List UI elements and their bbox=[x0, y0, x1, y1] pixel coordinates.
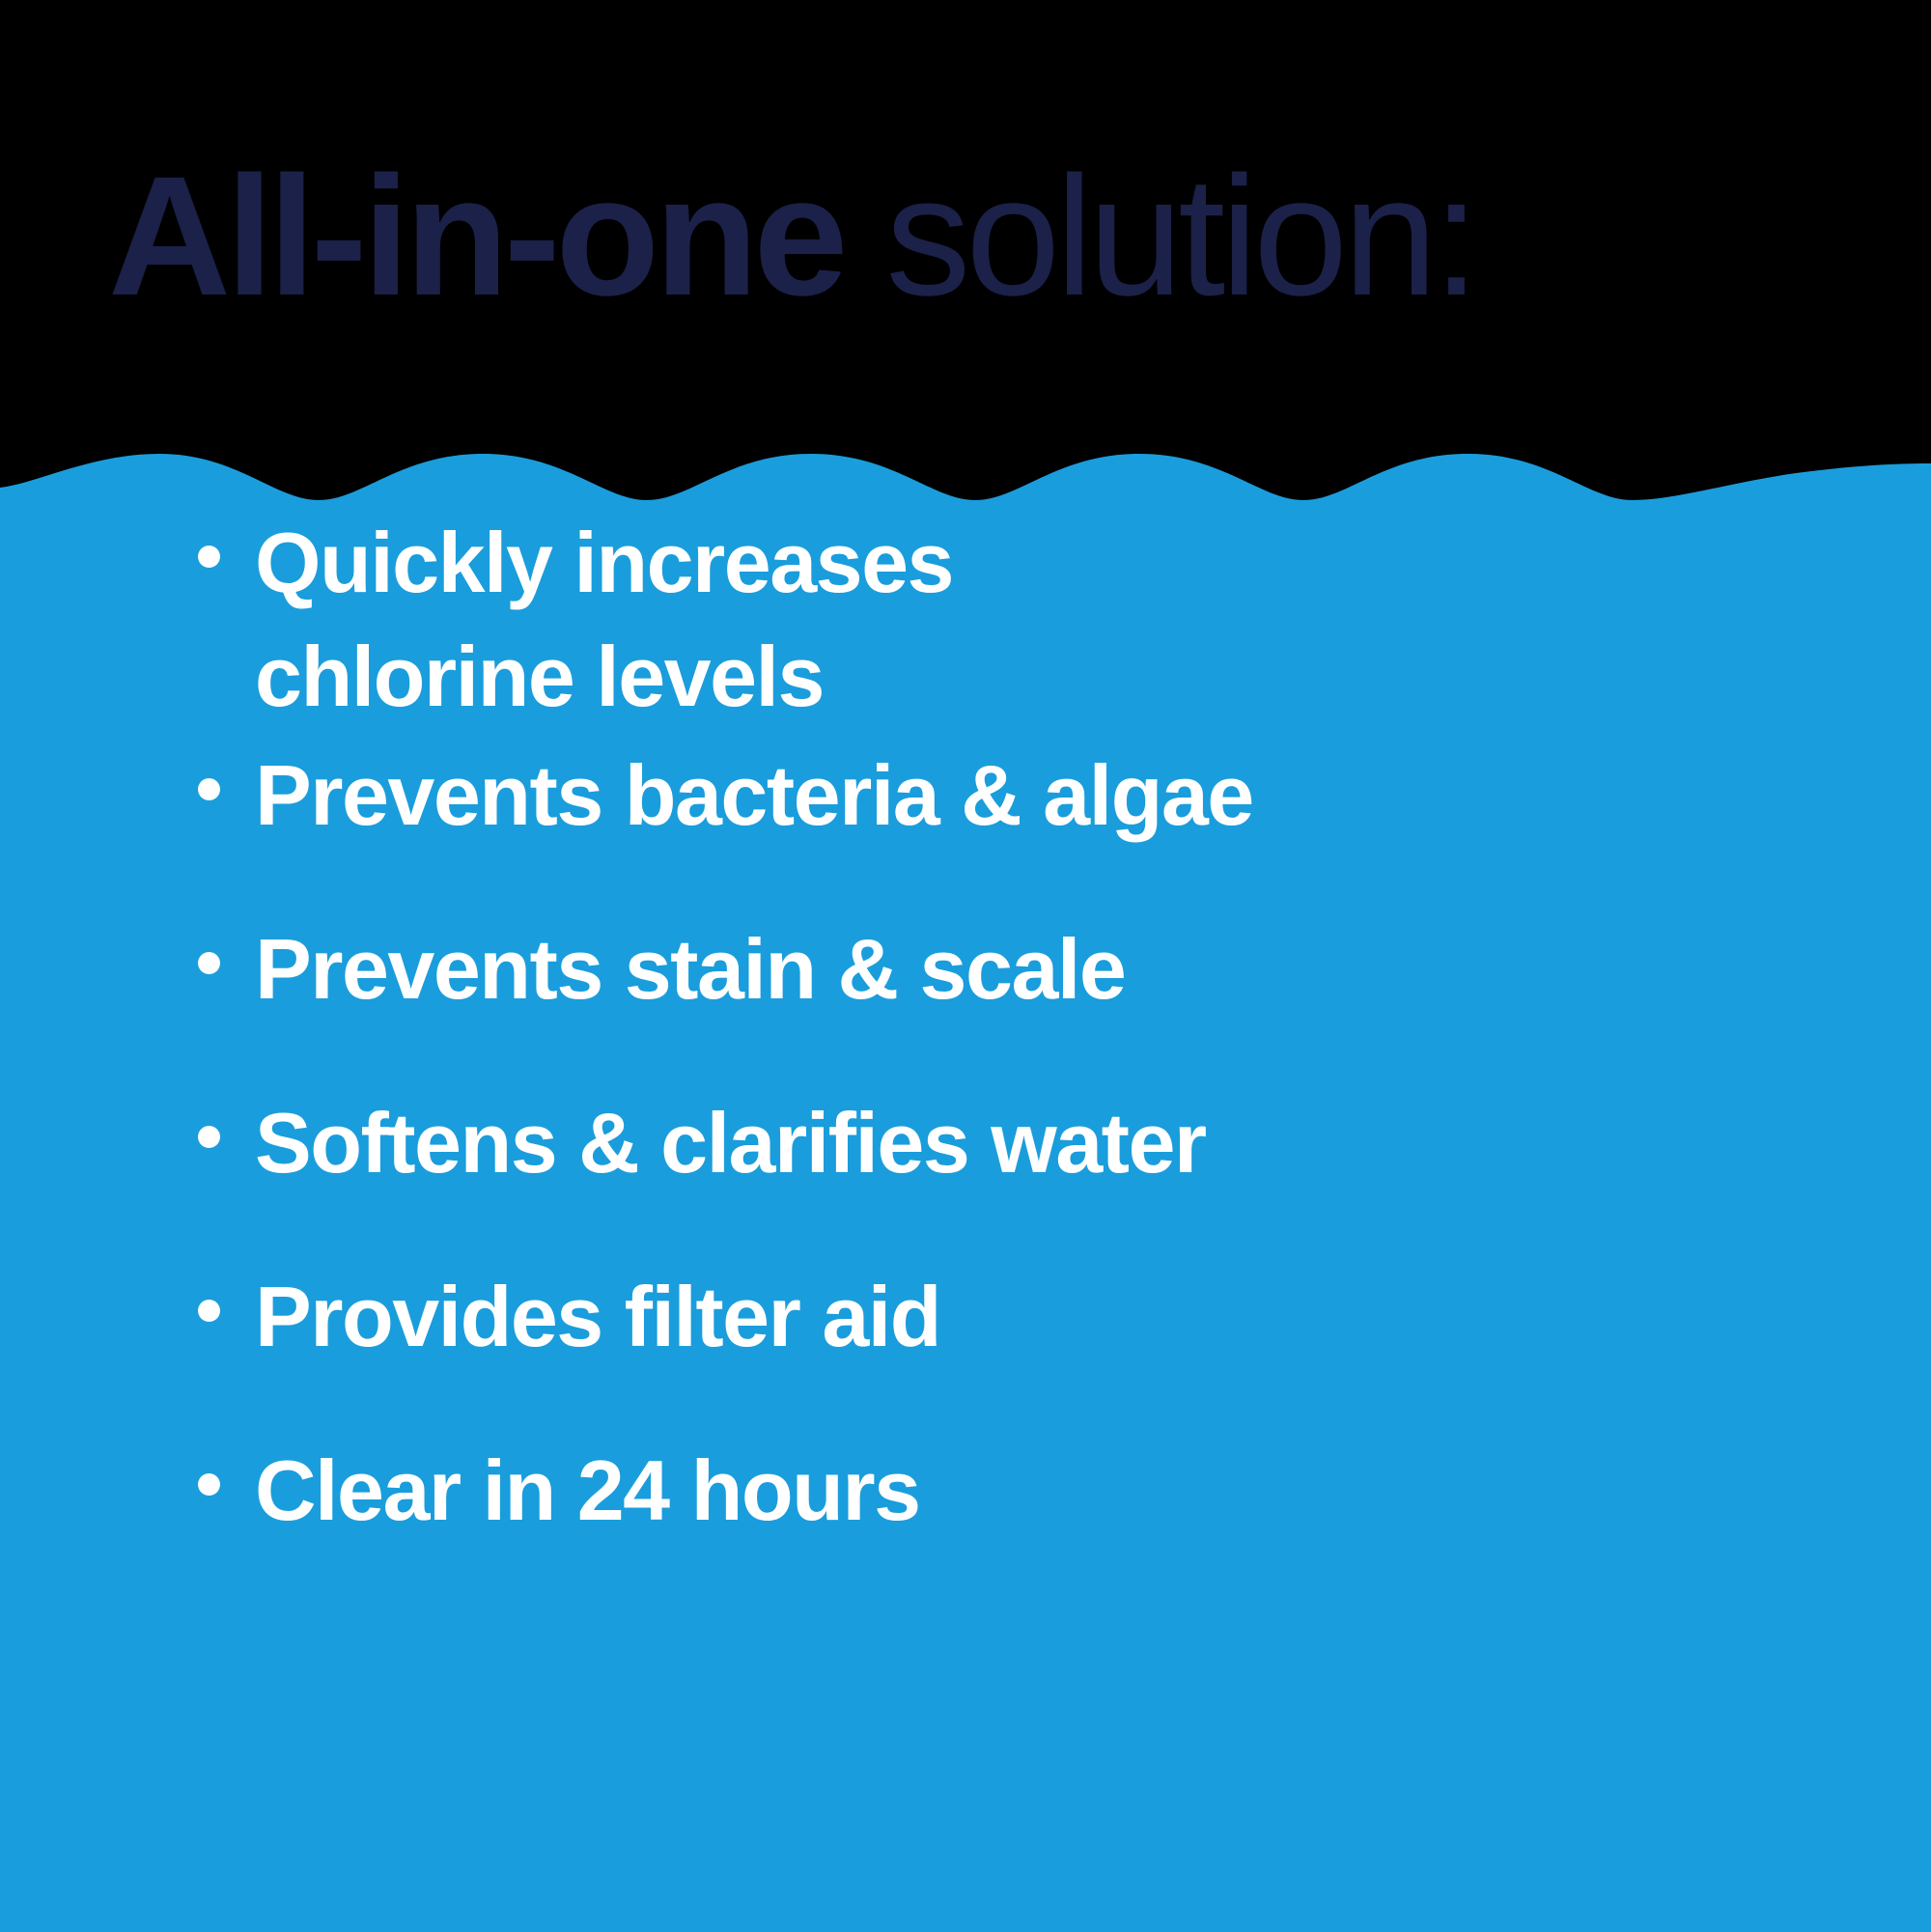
list-item-label: Softens & clarifies water bbox=[255, 1086, 1206, 1200]
list-item-label: Provides filter aid bbox=[255, 1260, 940, 1374]
list-item-label: Prevents stain & scale bbox=[255, 912, 1125, 1026]
list-item: Quickly increases chlorine levels bbox=[198, 506, 953, 734]
page-title-strong: All-in-one bbox=[108, 142, 843, 331]
page-title: All-in-one solution: bbox=[108, 145, 1846, 328]
bullet-dot-icon bbox=[198, 1300, 220, 1322]
list-item: Softens & clarifies water bbox=[198, 1086, 1206, 1200]
benefits-list: Quickly increases chlorine levels Preven… bbox=[0, 425, 1931, 1932]
bullet-dot-icon bbox=[198, 778, 220, 800]
list-item: Clear in 24 hours bbox=[198, 1434, 920, 1548]
list-item: Prevents bacteria & algae bbox=[198, 739, 1253, 853]
list-item: Provides filter aid bbox=[198, 1260, 940, 1374]
promo-graphic: All-in-one solution: Quickly increases c… bbox=[0, 0, 1931, 1932]
bullet-dot-icon bbox=[198, 1126, 220, 1148]
bullet-dot-icon bbox=[198, 952, 220, 974]
bullet-dot-icon bbox=[198, 546, 220, 568]
page-title-light: solution: bbox=[843, 142, 1474, 331]
list-item: Prevents stain & scale bbox=[198, 912, 1125, 1026]
list-item-label: Quickly increases chlorine levels bbox=[255, 506, 953, 734]
list-item-label: Prevents bacteria & algae bbox=[255, 739, 1253, 853]
list-item-label: Clear in 24 hours bbox=[255, 1434, 920, 1548]
bullet-dot-icon bbox=[198, 1473, 220, 1496]
